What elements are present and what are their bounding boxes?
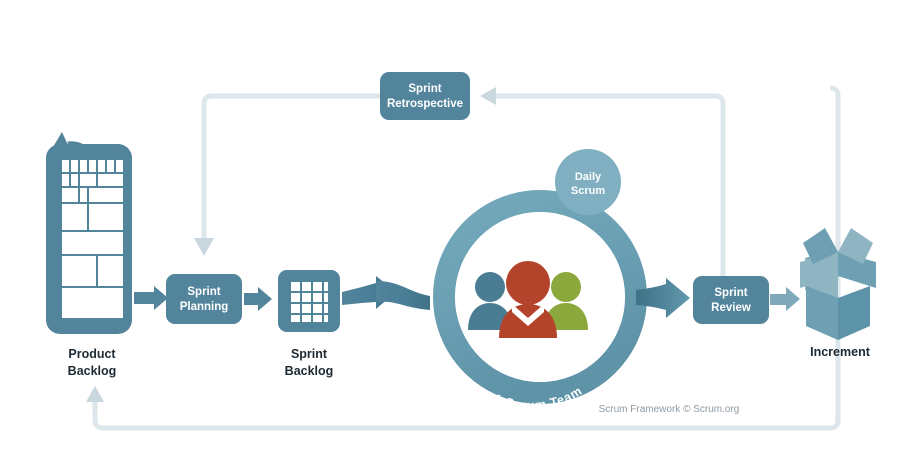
product-backlog-label-line2: Backlog xyxy=(68,364,117,378)
sprint-retrospective-label-line1: Sprint xyxy=(408,83,441,95)
scrum-team-people-icon xyxy=(468,261,588,338)
increment-label: Increment xyxy=(810,345,871,359)
arrow-head-left-to-retrospective xyxy=(480,87,496,105)
scrum-framework-diagram: Product Backlog Sprint Planning xyxy=(0,0,897,463)
node-sprint-review[interactable]: Sprint Review xyxy=(693,276,769,324)
connector-review-to-increment xyxy=(770,287,800,311)
node-sprint-planning[interactable]: Sprint Planning xyxy=(166,274,242,324)
sprint-planning-body xyxy=(166,274,242,324)
connector-planning-to-sprint-backlog xyxy=(244,287,272,311)
daily-scrum-label-line2: Scrum xyxy=(571,185,605,197)
diagram-canvas: Product Backlog Sprint Planning xyxy=(0,0,897,463)
sprint-review-body xyxy=(693,276,769,324)
node-sprint-retrospective[interactable]: Sprint Retrospective xyxy=(380,72,470,120)
connector-backlog-to-planning xyxy=(134,286,168,310)
node-daily-scrum[interactable]: Daily Scrum xyxy=(555,149,621,215)
sprint-planning-label-line1: Sprint xyxy=(187,286,220,298)
connector-sprint-backlog-to-sprint xyxy=(342,276,430,310)
node-product-backlog[interactable]: Product Backlog xyxy=(46,132,132,378)
credit-label: Scrum Framework © Scrum.org xyxy=(599,404,740,415)
sprint-backlog-label-line1: Sprint xyxy=(291,347,328,361)
arrow-head-up-to-backlog xyxy=(86,386,104,402)
sprint-review-label-line1: Sprint xyxy=(714,287,747,299)
product-backlog-label-line1: Product xyxy=(68,347,116,361)
daily-scrum-label-line1: Daily xyxy=(575,171,602,183)
sprint-planning-label-line2: Planning xyxy=(180,301,229,313)
connector-retrospective-to-planning xyxy=(194,96,380,256)
arrow-head-down-to-planning xyxy=(194,238,214,256)
node-sprint[interactable]: 1 Scrum Team xyxy=(444,201,636,412)
sprint-review-label-line2: Review xyxy=(711,302,751,314)
sprint-retrospective-body xyxy=(380,72,470,120)
connector-increment-loop-top xyxy=(830,88,838,96)
node-sprint-backlog[interactable]: Sprint Backlog xyxy=(278,270,340,378)
backlog-grid-icon xyxy=(62,160,123,318)
sprint-backlog-label-line2: Backlog xyxy=(285,364,334,378)
sprint-retrospective-label-line2: Retrospective xyxy=(387,98,463,110)
